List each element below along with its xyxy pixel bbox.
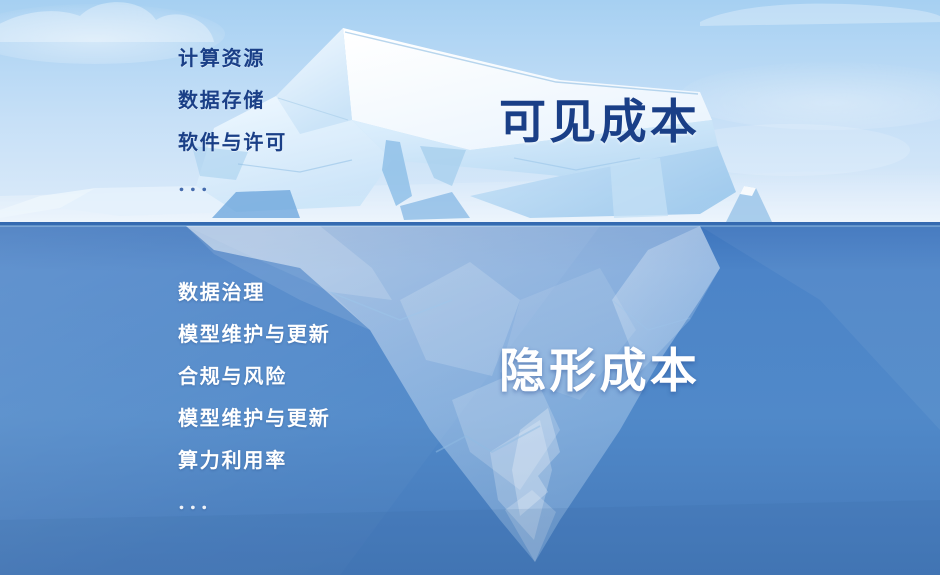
visible-cost-item: 软件与许可: [178, 132, 287, 152]
water-layer: [0, 222, 940, 575]
visible-cost-item: 数据存储: [178, 90, 287, 110]
visible-cost-ellipsis: ...: [178, 174, 287, 194]
hidden-cost-item: 模型维护与更新: [178, 408, 331, 428]
iceberg-illustration: [0, 0, 940, 575]
sky-layer: [0, 0, 940, 222]
hidden-cost-item: 模型维护与更新: [178, 324, 331, 344]
visible-cost-item: 计算资源: [178, 48, 287, 68]
hidden-cost-item: 数据治理: [178, 282, 331, 302]
hidden-cost-item: 合规与风险: [178, 366, 331, 386]
hidden-cost-item: 算力利用率: [178, 450, 331, 470]
hidden-cost-heading: 隐形成本: [499, 348, 700, 395]
hidden-cost-ellipsis: ...: [178, 492, 331, 512]
hidden-cost-list: 数据治理 模型维护与更新 合规与风险 模型维护与更新 算力利用率 ...: [178, 282, 331, 534]
visible-cost-list: 计算资源 数据存储 软件与许可 ...: [178, 48, 287, 216]
visible-cost-heading: 可见成本: [499, 99, 700, 146]
iceberg-diagram: 计算资源 数据存储 软件与许可 ... 可见成本 数据治理 模型维护与更新 合规…: [0, 0, 940, 575]
ice-facet-right-fold: [610, 158, 668, 218]
